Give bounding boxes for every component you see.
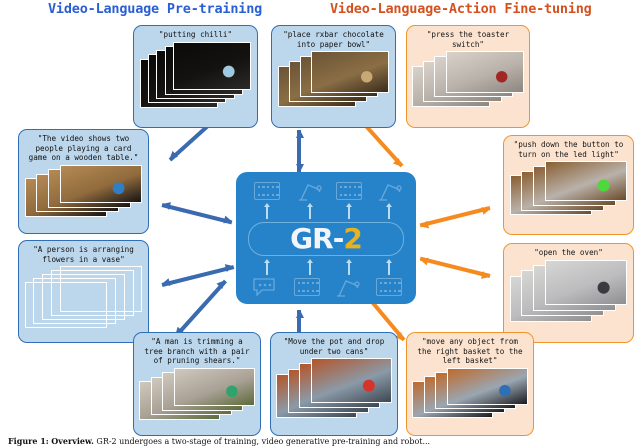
film-strip-icon	[336, 182, 362, 200]
center-node-gr2[interactable]: GR-2	[236, 172, 416, 304]
film-strip-icon	[294, 278, 320, 296]
caption-box-move-pot-cans[interactable]: "Move the pot and drop under two cans"	[270, 332, 398, 436]
caption-text: "open the oven"	[504, 244, 633, 260]
figure-caption: Figure 1: Overview. GR-2 undergoes a two…	[8, 436, 632, 446]
video-frame	[311, 358, 392, 402]
arrow-center-oven	[420, 259, 490, 276]
video-frame-stack	[139, 368, 255, 420]
video-frame	[545, 260, 628, 306]
gr2-label: GR-2	[236, 224, 416, 254]
caption-box-open-oven[interactable]: "open the oven"	[503, 243, 634, 343]
figure-caption-text: GR-2 undergoes a two-stage of training, …	[96, 437, 430, 446]
flow-arrow-up	[348, 262, 350, 275]
caption-box-led-light-button[interactable]: "push down the button to turn on the led…	[503, 135, 634, 235]
arrow-center-cardgame	[162, 205, 232, 222]
caption-box-putting-chilli[interactable]: "putting chilli"	[133, 25, 258, 128]
caption-text: "The video shows two people playing a ca…	[19, 130, 148, 165]
caption-text: "A person is arranging flowers in a vase…	[19, 241, 148, 266]
video-frame	[311, 51, 389, 92]
video-frame-stack	[25, 266, 143, 328]
caption-text: "place rxbar chocolate into paper bowl"	[272, 26, 395, 51]
header-video-language-pretraining: Video-Language Pre-training	[48, 1, 262, 17]
caption-text: "A man is trimming a tree branch with a …	[134, 333, 260, 368]
flow-arrow-up	[309, 206, 311, 219]
video-frame	[60, 165, 143, 203]
video-frame	[60, 266, 143, 312]
video-frame	[447, 368, 528, 405]
caption-box-pruning-shears[interactable]: "A man is trimming a tree branch with a …	[133, 332, 261, 436]
flow-arrow-up	[266, 262, 268, 275]
figure-canvas: Video-Language Pre-training Video-Langua…	[0, 0, 640, 446]
video-frame	[446, 51, 524, 92]
gr2-label-accent: 2	[343, 222, 361, 255]
video-frame-stack	[25, 165, 143, 217]
flow-arrow-up	[309, 262, 311, 275]
caption-box-toaster-switch[interactable]: "press the toaster switch"	[406, 25, 530, 128]
film-strip-icon	[376, 278, 402, 296]
robot-arm-icon	[378, 180, 402, 202]
video-frame-stack	[276, 358, 392, 418]
caption-box-card-game[interactable]: "The video shows two people playing a ca…	[18, 129, 149, 234]
flow-arrow-up	[266, 206, 268, 219]
caption-text: "Move the pot and drop under two cans"	[271, 333, 397, 358]
caption-text: "press the toaster switch"	[407, 26, 529, 51]
caption-text: "putting chilli"	[134, 26, 257, 42]
video-frame	[174, 368, 255, 406]
arrow-center-shears	[176, 281, 226, 336]
figure-caption-label: Figure 1:	[8, 436, 49, 446]
flow-arrow-up	[388, 262, 390, 275]
caption-text: "move any object from the right basket t…	[407, 333, 533, 368]
arrow-center-led	[420, 208, 490, 225]
video-frame	[173, 42, 251, 91]
flow-arrow-up	[388, 206, 390, 219]
caption-box-rxbar-chocolate[interactable]: "place rxbar chocolate into paper bowl"	[271, 25, 396, 128]
film-strip-icon	[254, 182, 280, 200]
video-frame-stack	[510, 161, 628, 215]
video-frame-stack	[412, 51, 524, 107]
video-frame-stack	[278, 51, 390, 107]
video-frame	[545, 161, 628, 201]
video-frame-stack	[412, 368, 528, 418]
video-frame-stack	[510, 260, 628, 322]
header-video-language-action-finetuning: Video-Language-Action Fine-tuning	[330, 1, 592, 17]
figure-caption-lead: Overview.	[51, 436, 94, 446]
caption-box-flowers-vase[interactable]: "A person is arranging flowers in a vase…	[18, 240, 149, 343]
caption-text: "push down the button to turn on the led…	[504, 136, 633, 161]
chat-bubble-icon	[252, 277, 278, 297]
flow-arrow-up	[348, 206, 350, 219]
gr2-label-main: GR-	[290, 222, 343, 255]
robot-arm-icon	[336, 276, 360, 298]
robot-arm-icon	[298, 180, 322, 202]
video-frame-stack	[140, 42, 252, 108]
caption-box-right-to-left-basket[interactable]: "move any object from the right basket t…	[406, 332, 534, 436]
